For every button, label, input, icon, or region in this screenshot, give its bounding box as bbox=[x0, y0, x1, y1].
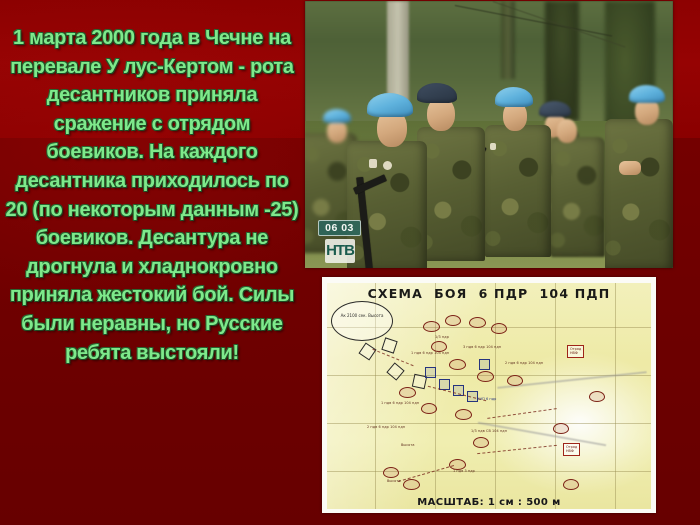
map-unit-red bbox=[507, 375, 523, 386]
photo-dark-beret bbox=[539, 101, 571, 117]
map-label: 1/3 пдв СВ 104 пдп bbox=[471, 429, 507, 433]
map-unit-blue bbox=[479, 359, 490, 370]
slide-caption-text: 1 марта 2000 года в Чечне на перевале У … bbox=[4, 24, 300, 367]
map-unit-red bbox=[455, 409, 472, 420]
map-enemy-label: Отряд НВФ bbox=[563, 443, 580, 456]
map-route-line bbox=[487, 408, 556, 419]
map-unit-red bbox=[399, 387, 416, 398]
map-unit-blue bbox=[425, 367, 436, 378]
photo-blue-beret bbox=[629, 85, 665, 103]
map-route-line bbox=[477, 445, 557, 454]
map-gridline bbox=[327, 471, 651, 472]
map-terrain-feature bbox=[478, 422, 606, 447]
battle-scheme-map: СХЕМА БОЯ 6 ПДР 104 ПДП Ак 2100 сек. Выс… bbox=[322, 277, 656, 513]
map-label: КНП 6 пдр bbox=[477, 397, 496, 401]
map-gridline bbox=[555, 283, 556, 509]
map-canvas: СХЕМА БОЯ 6 ПДР 104 ПДП Ак 2100 сек. Выс… bbox=[327, 283, 651, 509]
map-unit-red bbox=[477, 371, 494, 382]
map-gridline bbox=[435, 283, 436, 509]
map-unit-red bbox=[403, 479, 420, 490]
map-title: СХЕМА БОЯ 6 ПДР 104 ПДП bbox=[327, 286, 651, 301]
photo-uniform-badge bbox=[490, 143, 496, 150]
map-waypoint-marker bbox=[381, 337, 397, 353]
map-label: 1 пдв 3 пдр bbox=[453, 469, 475, 473]
map-enemy-label: Отряд НВФ bbox=[567, 345, 584, 358]
map-label: 1 пдв 6 пдр 104 пдп bbox=[381, 401, 419, 405]
map-unit-red bbox=[423, 321, 440, 332]
map-unit-red bbox=[563, 479, 579, 490]
map-stamp-annotation: Ак 2100 сек. Высота bbox=[331, 301, 393, 341]
map-label: 2 пдв 6 пдр 104 пдп bbox=[505, 361, 543, 365]
map-gridline bbox=[615, 283, 616, 509]
map-unit-red bbox=[383, 467, 399, 478]
map-scale-label: МАСШТАБ: 1 см : 500 м bbox=[327, 497, 651, 508]
map-waypoint-marker bbox=[358, 342, 376, 360]
map-unit-red bbox=[491, 323, 507, 334]
map-unit-red bbox=[469, 317, 486, 328]
photo-blue-beret bbox=[323, 109, 351, 123]
paratroopers-photograph: 06 03 НТВ bbox=[305, 1, 673, 268]
ntv-channel-logo: НТВ bbox=[325, 239, 355, 263]
photo-soldier-background bbox=[551, 137, 605, 257]
map-label: 3 пдв 6 пдр 104 пдп bbox=[463, 345, 501, 349]
map-waypoint-marker bbox=[386, 362, 404, 380]
map-label: 1 пдв 6 пдр 104 пдп bbox=[411, 351, 449, 355]
photo-uniform-badge bbox=[369, 159, 377, 168]
map-label: 1/3 пдр bbox=[435, 335, 449, 339]
map-label: 2 пдв 6 пдр 104 пдп bbox=[367, 425, 405, 429]
photo-soldier bbox=[417, 127, 485, 261]
map-label: Высота bbox=[401, 443, 415, 447]
photo-soldier-right bbox=[605, 119, 673, 268]
map-route-line bbox=[398, 465, 454, 482]
map-gridline bbox=[495, 283, 496, 509]
photo-uniform-medal bbox=[383, 161, 392, 170]
map-unit-red bbox=[473, 437, 489, 448]
map-unit-red bbox=[553, 423, 569, 434]
map-unit-red bbox=[421, 403, 437, 414]
photo-soldier-hand bbox=[619, 161, 641, 175]
map-unit-red bbox=[589, 391, 605, 402]
broadcast-clock: 06 03 bbox=[318, 220, 361, 236]
presentation-slide: 1 марта 2000 года в Чечне на перевале У … bbox=[0, 0, 700, 525]
map-label: Высота bbox=[387, 479, 401, 483]
map-unit-red bbox=[445, 315, 461, 326]
photo-soldier-head bbox=[557, 119, 577, 143]
map-unit-red bbox=[449, 359, 466, 370]
